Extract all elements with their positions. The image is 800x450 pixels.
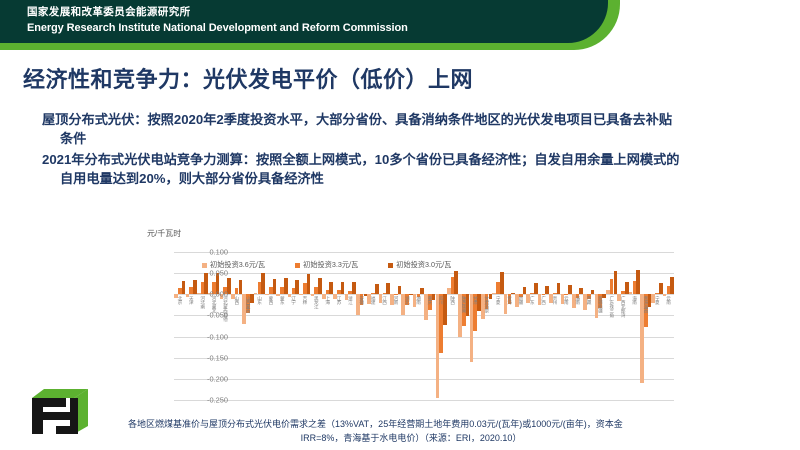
x-axis-tick-label: 北京 — [177, 296, 182, 304]
bar-group — [390, 252, 401, 400]
bullet-1-line-2: 条件 — [42, 129, 786, 148]
bar-group — [310, 252, 321, 400]
bar-group — [401, 252, 412, 400]
footnote-line-1: 各地区燃煤基准价与屋顶分布式光伏电价需求之差（13%VAT，25年经营期土地年费… — [128, 418, 694, 432]
x-axis-tick-label: 福建 — [371, 296, 376, 304]
x-axis-tick-label: 山西蒙西 — [246, 296, 251, 313]
x-axis-tick-label: 黑龙江 — [314, 296, 319, 309]
x-axis-tick-label: 云南 — [564, 296, 569, 304]
bar-group — [174, 252, 185, 400]
x-axis-tick-label: 湖南 — [416, 296, 421, 304]
bar — [564, 294, 568, 295]
x-axis-tick-label: 湖北 — [405, 296, 410, 304]
bar-chart: 元/千瓦时 初始投资3.6元/瓦初始投资3.3元/瓦初始投资3.0元/瓦 北京天… — [130, 228, 690, 418]
bar-group — [344, 252, 355, 400]
chart-footnote: 各地区燃煤基准价与屋顶分布式光伏电价需求之差（13%VAT，25年经营期土地年费… — [128, 418, 694, 445]
bar-group — [333, 252, 344, 400]
x-axis-tick-label: 海南 — [575, 296, 580, 304]
y-axis-tick-label: -0.250 — [188, 396, 228, 405]
bar — [265, 294, 269, 295]
bar-group — [265, 252, 276, 400]
page-title: 经济性和竞争力：光伏发电平价（低价）上网 — [23, 62, 473, 94]
slide-root: 国家发展和改革委员会能源研究所 Energy Research Institut… — [0, 0, 800, 450]
bar-group — [606, 252, 617, 400]
bar-group — [458, 252, 469, 400]
org-name-en: Energy Research Institute National Devel… — [27, 21, 408, 35]
x-axis-tick-label: 蒙西 — [268, 296, 273, 304]
bar-group — [640, 252, 651, 400]
x-axis-tick-label: 四川 — [439, 296, 444, 304]
x-axis-tick-label: 新疆 — [518, 296, 523, 304]
bar-group — [379, 252, 390, 400]
x-axis-tick-label: 吉林 — [302, 296, 307, 304]
bar — [670, 277, 674, 294]
bar-group — [594, 252, 605, 400]
chart-plot-area: 北京天津河北南河北冀北河北蒙西其他山西山西蒙西山东蒙西蒙东辽宁吉林黑龙江上海江苏… — [174, 252, 674, 400]
x-axis-tick-label: 安徽 — [359, 296, 364, 304]
bar-group — [276, 252, 287, 400]
bar-group — [424, 252, 435, 400]
x-axis-tick-label: 青海海西 — [643, 296, 648, 313]
bar-group — [413, 252, 424, 400]
bar-group — [572, 252, 583, 400]
x-axis-tick-label: 浙江 — [348, 296, 353, 304]
bar-group — [435, 252, 446, 400]
x-axis-tick-label: 广东 — [530, 296, 535, 304]
bar-group — [504, 252, 515, 400]
x-axis-tick-label: 广西北部湾 — [621, 296, 626, 317]
y-axis-tick-label: 0.100 — [188, 248, 228, 257]
x-axis-tick-label: 贵州 — [552, 296, 557, 304]
bar — [542, 294, 546, 295]
x-axis-tick-label: 上海 — [325, 296, 330, 304]
x-axis-tick-label: 江西 — [382, 296, 387, 304]
org-name-cn: 国家发展和改革委员会能源研究所 — [27, 6, 408, 19]
gridline — [174, 400, 674, 401]
bar-group — [288, 252, 299, 400]
bar-group — [299, 252, 310, 400]
bar-group — [356, 252, 367, 400]
list-item: 2021年分布式光伏电站竞争力测算：按照全额上网模式，10多个省份已具备经济性；… — [34, 150, 786, 188]
bar-group — [663, 252, 674, 400]
bar-group — [526, 252, 537, 400]
bar-group — [231, 252, 242, 400]
chart-bars — [174, 252, 674, 400]
bar-group — [254, 252, 265, 400]
x-axis-tick-label: 新疆南疆 — [598, 296, 603, 313]
y-axis-tick-label: -0.200 — [188, 374, 228, 383]
x-axis-tick-label: 河南 — [393, 296, 398, 304]
x-axis-tick-label: 西藏 — [586, 296, 591, 304]
bullet-2-line-2: 自用电量达到20%，则大部分省份具备经济性 — [42, 169, 786, 188]
x-axis-tick-label: 陕西 — [450, 296, 455, 304]
x-axis-tick-label: 辽宁 — [291, 296, 296, 304]
footnote-line-2: IRR=8%，青海基于水电电价）（来源：ERI，2020.10） — [128, 432, 694, 446]
bar-group — [447, 252, 458, 400]
bar-group — [242, 252, 253, 400]
bar-group — [549, 252, 560, 400]
bar-group — [492, 252, 503, 400]
x-axis-tick-label: 海南 — [632, 296, 637, 304]
eri-logo — [18, 388, 102, 438]
x-axis-tick-label: 重庆 — [427, 296, 432, 304]
x-axis-tick-label: 陕西陕南 — [461, 296, 466, 313]
list-item: 屋顶分布式光伏：按照2020年2季度投资水平，大部分省份、具备消纳条件地区的光伏… — [34, 110, 786, 148]
x-axis-tick-label: 蒙东 — [280, 296, 285, 304]
bar-group — [322, 252, 333, 400]
y-axis-tick-label: -0.100 — [188, 332, 228, 341]
x-axis-tick-label: 甘肃 — [473, 296, 478, 304]
chart-y-unit-label: 元/千瓦时 — [147, 228, 181, 239]
bar-group — [560, 252, 571, 400]
x-axis-tick-label: 广西 — [541, 296, 546, 304]
bullet-list: 屋顶分布式光伏：按照2020年2季度投资水平，大部分省份、具备消纳条件地区的光伏… — [34, 110, 786, 191]
bar-group — [481, 252, 492, 400]
x-axis-tick-label: 宁夏 — [655, 296, 660, 304]
x-axis-tick-label: 江苏 — [336, 296, 341, 304]
bar-group — [617, 252, 628, 400]
x-axis-tick-label: 甘肃酒泉 — [484, 296, 489, 313]
slide-header: 国家发展和改革委员会能源研究所 Energy Research Institut… — [0, 0, 640, 50]
x-axis-tick-label: 宁夏 — [496, 296, 501, 304]
y-axis-tick-label: -0.050 — [188, 311, 228, 320]
bar — [394, 294, 398, 295]
header-text-block: 国家发展和改革委员会能源研究所 Energy Research Institut… — [27, 6, 408, 36]
x-axis-tick-label: 云南 — [666, 296, 671, 304]
x-axis-tick-label: 山东 — [257, 296, 262, 304]
bar-group — [583, 252, 594, 400]
bar — [299, 294, 303, 295]
y-axis-tick-label: -0.150 — [188, 353, 228, 362]
x-axis-tick-label: 青海 — [507, 296, 512, 304]
bar-group — [367, 252, 378, 400]
bullet-1-line-1: 屋顶分布式光伏：按照2020年2季度投资水平，大部分省份、具备消纳条件地区的光伏… — [42, 110, 786, 129]
x-axis-tick-label: 广东珠三角 — [609, 296, 614, 317]
bar-group — [629, 252, 640, 400]
bar-group — [515, 252, 526, 400]
bar-group — [651, 252, 662, 400]
bar-group — [538, 252, 549, 400]
y-axis-tick-label: 0.000 — [188, 290, 228, 299]
bullet-2-line-1: 2021年分布式光伏电站竞争力测算：按照全额上网模式，10多个省份已具备经济性；… — [42, 150, 786, 169]
bar-group — [469, 252, 480, 400]
x-axis-tick-label: 山西 — [234, 296, 239, 304]
y-axis-tick-label: 0.050 — [188, 269, 228, 278]
